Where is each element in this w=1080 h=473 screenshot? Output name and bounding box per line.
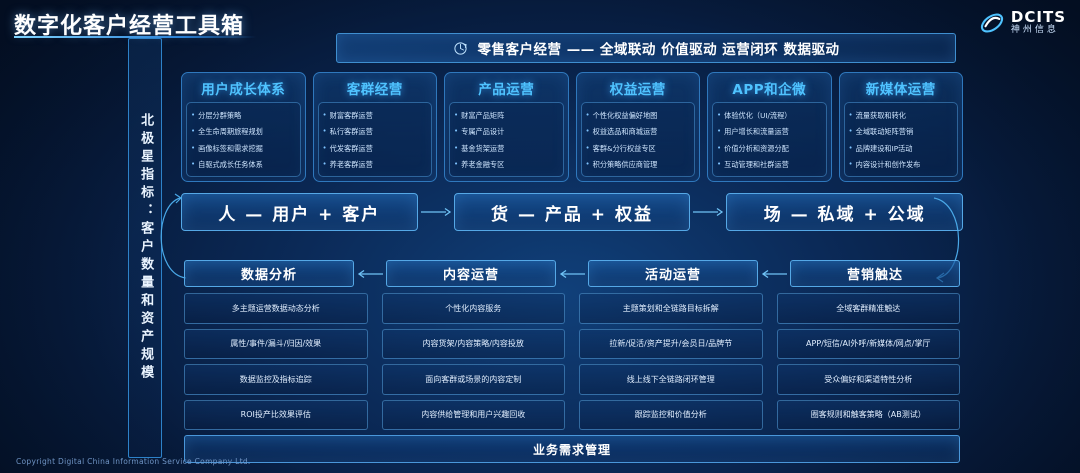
detail-cell[interactable]: 圈客规则和触客策略（AB测试） (777, 400, 961, 431)
detail-cell[interactable]: 属性/事件/漏斗/归因/效果 (184, 329, 368, 360)
card-list: •流量获取和转化 •全域联动矩阵营销 •品牌建设和IP活动 •内容设计和创作发布 (844, 102, 959, 177)
detail-cell[interactable]: 个性化内容服务 (382, 293, 566, 324)
card-list-item: •互动管理和社群运营 (717, 160, 823, 169)
detail-cell[interactable]: 多主题运营数据动态分析 (184, 293, 368, 324)
logo-wordmark: DCITS (1011, 10, 1066, 26)
bullet-icon: • (191, 111, 195, 120)
card-title: 权益运营 (581, 78, 696, 98)
card-item-label: 客群&分行权益专区 (593, 144, 656, 153)
bullet-icon: • (717, 111, 721, 120)
arrow-right-1 (418, 206, 454, 218)
capability-card[interactable]: 用户成长体系 •分层分群策略 •全生命周期旅程规划 •画像标签和需求挖掘 •自驱… (181, 72, 306, 182)
card-item-label: 养老客群运营 (330, 160, 373, 169)
bullet-icon: • (717, 160, 721, 169)
card-list: •财富产品矩阵 •专属产品设计 •基金货架运营 •养老金融专区 (449, 102, 564, 177)
card-title: 产品运营 (449, 78, 564, 98)
detail-cell[interactable]: 内容货架/内容策略/内容投放 (382, 329, 566, 360)
capability-card[interactable]: 权益运营 •个性化权益偏好地图 •权益选品和商城运营 •客群&分行权益专区 •积… (576, 72, 701, 182)
card-list-item: •养老金融专区 (454, 160, 560, 169)
stage-marketing-reach[interactable]: 营销触达 (790, 260, 960, 287)
bullet-icon: • (586, 111, 590, 120)
bullet-icon: • (191, 144, 195, 153)
card-title: 用户成长体系 (186, 78, 301, 98)
card-list-item: •品牌建设和IP活动 (849, 144, 955, 153)
north-star-axis-label: 北极星指标：客户数量和资产规模 (138, 113, 152, 383)
card-item-label: 流量获取和转化 (856, 111, 906, 120)
bullet-icon: • (849, 144, 853, 153)
card-item-label: 私行客群运营 (330, 127, 373, 136)
cycle-arrow-icon (453, 41, 468, 56)
card-list-item: •全域联动矩阵营销 (849, 127, 955, 136)
detail-cell[interactable]: 面向客群或场景的内容定制 (382, 364, 566, 395)
capability-card[interactable]: 客群经营 •财富客群运营 •私行客群运营 •代发客群运营 •养老客群运营 (313, 72, 438, 182)
bullet-icon: • (454, 144, 458, 153)
detail-cell[interactable]: 线上线下全链路闭环管理 (579, 364, 763, 395)
bullet-icon: • (717, 127, 721, 136)
card-list: •财富客群运营 •私行客群运营 •代发客群运营 •养老客群运营 (318, 102, 433, 177)
card-list-item: •代发客群运营 (323, 144, 429, 153)
card-item-label: 全域联动矩阵营销 (856, 127, 914, 136)
card-list: •分层分群策略 •全生命周期旅程规划 •画像标签和需求挖掘 •自驱式成长任务体系 (186, 102, 301, 177)
bullet-icon: • (323, 111, 327, 120)
card-item-label: 财富产品矩阵 (461, 111, 504, 120)
banner-text: 零售客户经营 —— 全域联动 价值驱动 运营闭环 数据驱动 (478, 38, 840, 58)
card-list-item: •全生命周期旅程规划 (191, 127, 297, 136)
stage-campaign-ops[interactable]: 活动运营 (588, 260, 758, 287)
bullet-icon: • (454, 160, 458, 169)
detail-column-data-analysis: 多主题运营数据动态分析 属性/事件/漏斗/归因/效果 数据监控及指标追踪 ROI… (184, 293, 368, 430)
bullet-icon: • (323, 144, 327, 153)
detail-column-campaign-ops: 主题策划和全链路目标拆解 拉新/促活/资产提升/会员日/品牌节 线上线下全链路闭… (579, 293, 763, 430)
card-item-label: 内容设计和创作发布 (856, 160, 921, 169)
card-item-label: 自驱式成长任务体系 (198, 160, 263, 169)
card-item-label: 个性化权益偏好地图 (593, 111, 658, 120)
business-requirement-bar[interactable]: 业务需求管理 (184, 435, 960, 463)
stage-data-analysis[interactable]: 数据分析 (184, 260, 354, 287)
card-item-label: 体验优化（UI/流程） (724, 111, 791, 120)
card-title: 新媒体运营 (844, 78, 959, 98)
detail-cell[interactable]: 主题策划和全链路目标拆解 (579, 293, 763, 324)
card-list: •个性化权益偏好地图 •权益选品和商城运营 •客群&分行权益专区 •积分策略供应… (581, 102, 696, 177)
detail-column-content-ops: 个性化内容服务 内容货架/内容策略/内容投放 面向客群或场景的内容定制 内容供给… (382, 293, 566, 430)
bullet-icon: • (717, 144, 721, 153)
detail-cell[interactable]: 全域客群精准触达 (777, 293, 961, 324)
bullet-icon: • (586, 127, 590, 136)
card-list-item: •财富客群运营 (323, 111, 429, 120)
capability-cards: 用户成长体系 •分层分群策略 •全生命周期旅程规划 •画像标签和需求挖掘 •自驱… (181, 72, 963, 182)
detail-cell[interactable]: 拉新/促活/资产提升/会员日/品牌节 (579, 329, 763, 360)
card-list-item: •画像标签和需求挖掘 (191, 144, 297, 153)
card-item-label: 权益选品和商城运营 (593, 127, 658, 136)
card-list-item: •客群&分行权益专区 (586, 144, 692, 153)
capability-card[interactable]: APP和企微 •体验优化（UI/流程） •用户增长和流量运营 •价值分析和资源分… (707, 72, 832, 182)
north-star-axis: 北极星指标：客户数量和资产规模 (128, 38, 162, 458)
bullet-icon: • (323, 160, 327, 169)
card-item-label: 财富客群运营 (330, 111, 373, 120)
rhs-box-goods[interactable]: 货 — 产品 + 权益 (454, 193, 691, 231)
stage-header-row: 数据分析 内容运营 活动运营 营销触达 (184, 260, 960, 287)
card-title: 客群经营 (318, 78, 433, 98)
rhs-box-people[interactable]: 人 — 用户 + 客户 (181, 193, 418, 231)
bullet-icon: • (849, 111, 853, 120)
detail-cell[interactable]: APP/短信/AI外呼/新媒体/网点/掌厅 (777, 329, 961, 360)
card-item-label: 用户增长和流量运营 (724, 127, 789, 136)
card-item-label: 代发客群运营 (330, 144, 373, 153)
bullet-icon: • (454, 127, 458, 136)
card-list-item: •价值分析和资源分配 (717, 144, 823, 153)
arrow-right-2 (690, 206, 726, 218)
people-goods-field-row: 人 — 用户 + 客户 货 — 产品 + 权益 场 — 私域 + 公域 (181, 193, 963, 231)
bullet-icon: • (849, 127, 853, 136)
arrow-left-1 (354, 268, 386, 280)
card-list-item: •流量获取和转化 (849, 111, 955, 120)
card-item-label: 基金货架运营 (461, 144, 504, 153)
card-list-item: •基金货架运营 (454, 144, 560, 153)
bullet-icon: • (191, 127, 195, 136)
brand-logo: DCITS 神州信息 (979, 10, 1066, 36)
bullet-icon: • (586, 144, 590, 153)
stage-content-ops[interactable]: 内容运营 (386, 260, 556, 287)
card-list-item: •内容设计和创作发布 (849, 160, 955, 169)
card-list-item: •体验优化（UI/流程） (717, 111, 823, 120)
card-item-label: 品牌建设和IP活动 (856, 144, 913, 153)
bullet-icon: • (454, 111, 458, 120)
detail-cell[interactable]: ROI投产比效果评估 (184, 400, 368, 431)
copyright-text: Copyright Digital China Information Serv… (16, 457, 251, 466)
card-item-label: 全生命周期旅程规划 (198, 127, 263, 136)
card-item-label: 价值分析和资源分配 (724, 144, 789, 153)
detail-cell[interactable]: 内容供给管理和用户兴趣回收 (382, 400, 566, 431)
card-list-item: •财富产品矩阵 (454, 111, 560, 120)
banner: 零售客户经营 —— 全域联动 价值驱动 运营闭环 数据驱动 (336, 33, 956, 63)
card-list-item: •分层分群策略 (191, 111, 297, 120)
card-item-label: 养老金融专区 (461, 160, 504, 169)
arrow-left-2 (556, 268, 588, 280)
capability-card[interactable]: 新媒体运营 •流量获取和转化 •全域联动矩阵营销 •品牌建设和IP活动 •内容设… (839, 72, 964, 182)
detail-cell[interactable]: 跟踪监控和价值分析 (579, 400, 763, 431)
detail-cell[interactable]: 受众偏好和渠道特性分析 (777, 364, 961, 395)
bullet-icon: • (586, 160, 590, 169)
card-item-label: 画像标签和需求挖掘 (198, 144, 263, 153)
card-item-label: 互动管理和社群运营 (724, 160, 789, 169)
arrow-left-3 (758, 268, 790, 280)
detail-grid: 多主题运营数据动态分析 属性/事件/漏斗/归因/效果 数据监控及指标追踪 ROI… (184, 293, 960, 430)
capability-card[interactable]: 产品运营 •财富产品矩阵 •专属产品设计 •基金货架运营 •养老金融专区 (444, 72, 569, 182)
card-list-item: •养老客群运营 (323, 160, 429, 169)
card-list-item: •专属产品设计 (454, 127, 560, 136)
card-list-item: •个性化权益偏好地图 (586, 111, 692, 120)
card-list: •体验优化（UI/流程） •用户增长和流量运营 •价值分析和资源分配 •互动管理… (712, 102, 827, 177)
card-title: APP和企微 (712, 78, 827, 98)
card-list-item: •权益选品和商城运营 (586, 127, 692, 136)
card-list-item: •用户增长和流量运营 (717, 127, 823, 136)
dcits-swirl-icon (979, 10, 1005, 36)
bullet-icon: • (849, 160, 853, 169)
rhs-box-field[interactable]: 场 — 私域 + 公域 (726, 193, 963, 231)
detail-column-marketing-reach: 全域客群精准触达 APP/短信/AI外呼/新媒体/网点/掌厅 受众偏好和渠道特性… (777, 293, 961, 430)
card-list-item: •积分策略供应商管理 (586, 160, 692, 169)
card-item-label: 分层分群策略 (198, 111, 241, 120)
card-item-label: 积分策略供应商管理 (593, 160, 658, 169)
bullet-icon: • (323, 127, 327, 136)
card-list-item: •自驱式成长任务体系 (191, 160, 297, 169)
detail-cell[interactable]: 数据监控及指标追踪 (184, 364, 368, 395)
logo-subtitle: 神州信息 (1011, 26, 1066, 35)
card-item-label: 专属产品设计 (461, 127, 504, 136)
card-list-item: •私行客群运营 (323, 127, 429, 136)
bullet-icon: • (191, 160, 195, 169)
